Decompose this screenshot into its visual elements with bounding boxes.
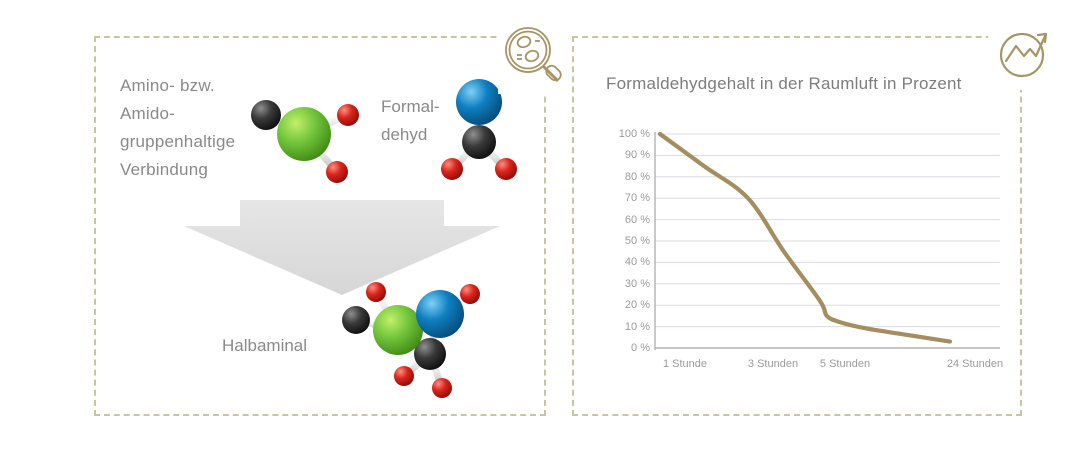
x-tick-label: 3 Stunden — [748, 358, 798, 370]
y-tick-label: 70 % — [604, 192, 650, 204]
y-tick-label: 20 % — [604, 299, 650, 311]
x-axis-tick-labels: 1 Stunde3 Stunden5 Stunden24 Stunden — [0, 358, 1080, 378]
y-tick-label: 10 % — [604, 321, 650, 333]
y-tick-label: 40 % — [604, 256, 650, 268]
y-tick-label: 50 % — [604, 235, 650, 247]
x-tick-label: 5 Stunden — [820, 358, 870, 370]
y-tick-label: 0 % — [604, 342, 650, 354]
y-tick-label: 80 % — [604, 171, 650, 183]
y-tick-label: 30 % — [604, 278, 650, 290]
formaldehyde-decay-chart — [0, 0, 1080, 462]
y-tick-label: 60 % — [604, 214, 650, 226]
x-tick-label: 24 Stunden — [947, 358, 1003, 370]
y-tick-label: 90 % — [604, 149, 650, 161]
x-tick-label: 1 Stunde — [663, 358, 707, 370]
y-tick-label: 100 % — [604, 128, 650, 140]
y-axis-tick-labels: 100 %90 %80 %70 %60 %50 %40 %30 %20 %10 … — [604, 0, 650, 462]
infographic-canvas: Amino- bzw.Amido-gruppenhaltigeVerbindun… — [0, 0, 1080, 462]
